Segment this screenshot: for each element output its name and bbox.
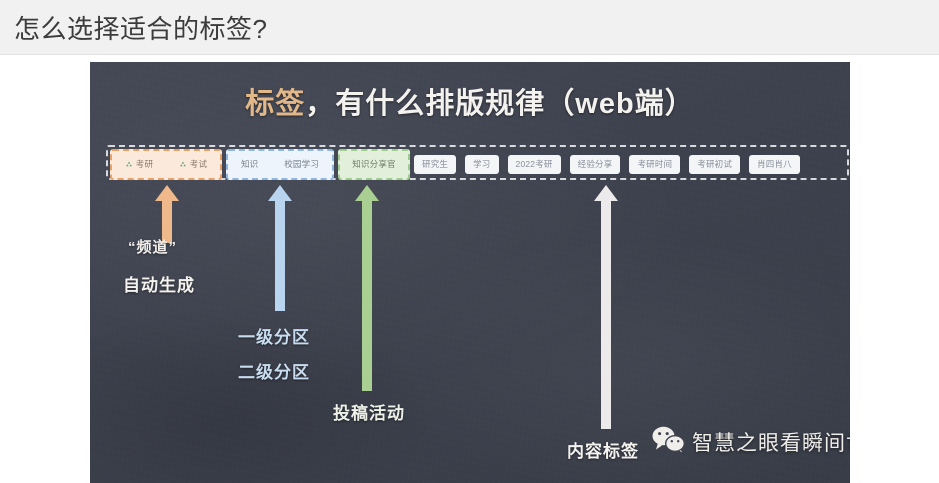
tag-chip-xuexi[interactable]: 学习 [465, 155, 498, 174]
partition-arrow [267, 185, 293, 311]
content-arrow [593, 185, 619, 429]
tag-group-content: 研究生 学习 2022考研 经验分享 考研时间 考研初试 肖四肖八 [414, 149, 847, 180]
annotation-level2: 二级分区 [238, 358, 310, 383]
board-heading-accent: 标签 [245, 88, 305, 120]
watermark: 智慧之眼看瞬间世界 [652, 426, 850, 458]
tag-group-activity: 知识分享官 [338, 149, 410, 180]
annotation-auto-generate: 自动生成 [123, 271, 195, 296]
tag-chip-xiaosixiaoba[interactable]: 肖四肖八 [749, 155, 800, 174]
slide-area: 标签，有什么排版规律（web端） 考研 考试 [0, 55, 939, 483]
activity-arrow [354, 185, 380, 391]
tag-chip-kaoshi[interactable]: 考试 [179, 160, 207, 169]
tag-group-channel: 考研 考试 [110, 149, 222, 180]
annotation-channel: “频道” [128, 236, 177, 257]
tag-chip-jingyanfenxiang[interactable]: 经验分享 [570, 155, 621, 174]
tag-group-partition: 知识 校园学习 [226, 149, 334, 180]
page-title: 怎么选择适合的标签? [14, 9, 267, 46]
tag-strip: 考研 考试 知识 校园学习 知识分享官 研究生 [106, 145, 849, 180]
blackboard-image: 标签，有什么排版规律（web端） 考研 考试 [90, 62, 850, 483]
watermark-text: 智慧之眼看瞬间世界 [692, 427, 850, 457]
wechat-icon [652, 426, 685, 458]
tag-chip-2022kaoyan[interactable]: 2022考研 [508, 155, 561, 174]
tag-label: 考试 [190, 160, 207, 169]
channel-arrow [154, 185, 180, 243]
annotation-contribution: 投稿活动 [333, 399, 405, 424]
chalkboard-texture [90, 62, 850, 483]
board-heading-rest: ，有什么排版规律（web端） [305, 88, 694, 120]
tag-chip-zhishifenxiangguan[interactable]: 知识分享官 [352, 160, 396, 169]
tag-chip-kaoyan[interactable]: 考研 [125, 160, 153, 169]
tag-chip-yanjiusheng[interactable]: 研究生 [414, 155, 456, 174]
tag-chip-xiaoyuanxuexi[interactable]: 校园学习 [284, 160, 319, 169]
tag-label: 考研 [136, 160, 153, 169]
board-heading: 标签，有什么排版规律（web端） [90, 80, 850, 122]
annotation-content-tag: 内容标签 [567, 437, 639, 462]
tag-chip-kaoyanshijian[interactable]: 考研时间 [629, 155, 680, 174]
tag-chip-zhishi[interactable]: 知识 [241, 160, 258, 169]
tag-chip-kaoyanchushi[interactable]: 考研初试 [689, 155, 740, 174]
leaf-icon [125, 161, 133, 169]
annotation-level1: 一级分区 [238, 323, 310, 348]
leaf-icon [179, 161, 187, 169]
header-bar: 怎么选择适合的标签? [0, 0, 939, 55]
